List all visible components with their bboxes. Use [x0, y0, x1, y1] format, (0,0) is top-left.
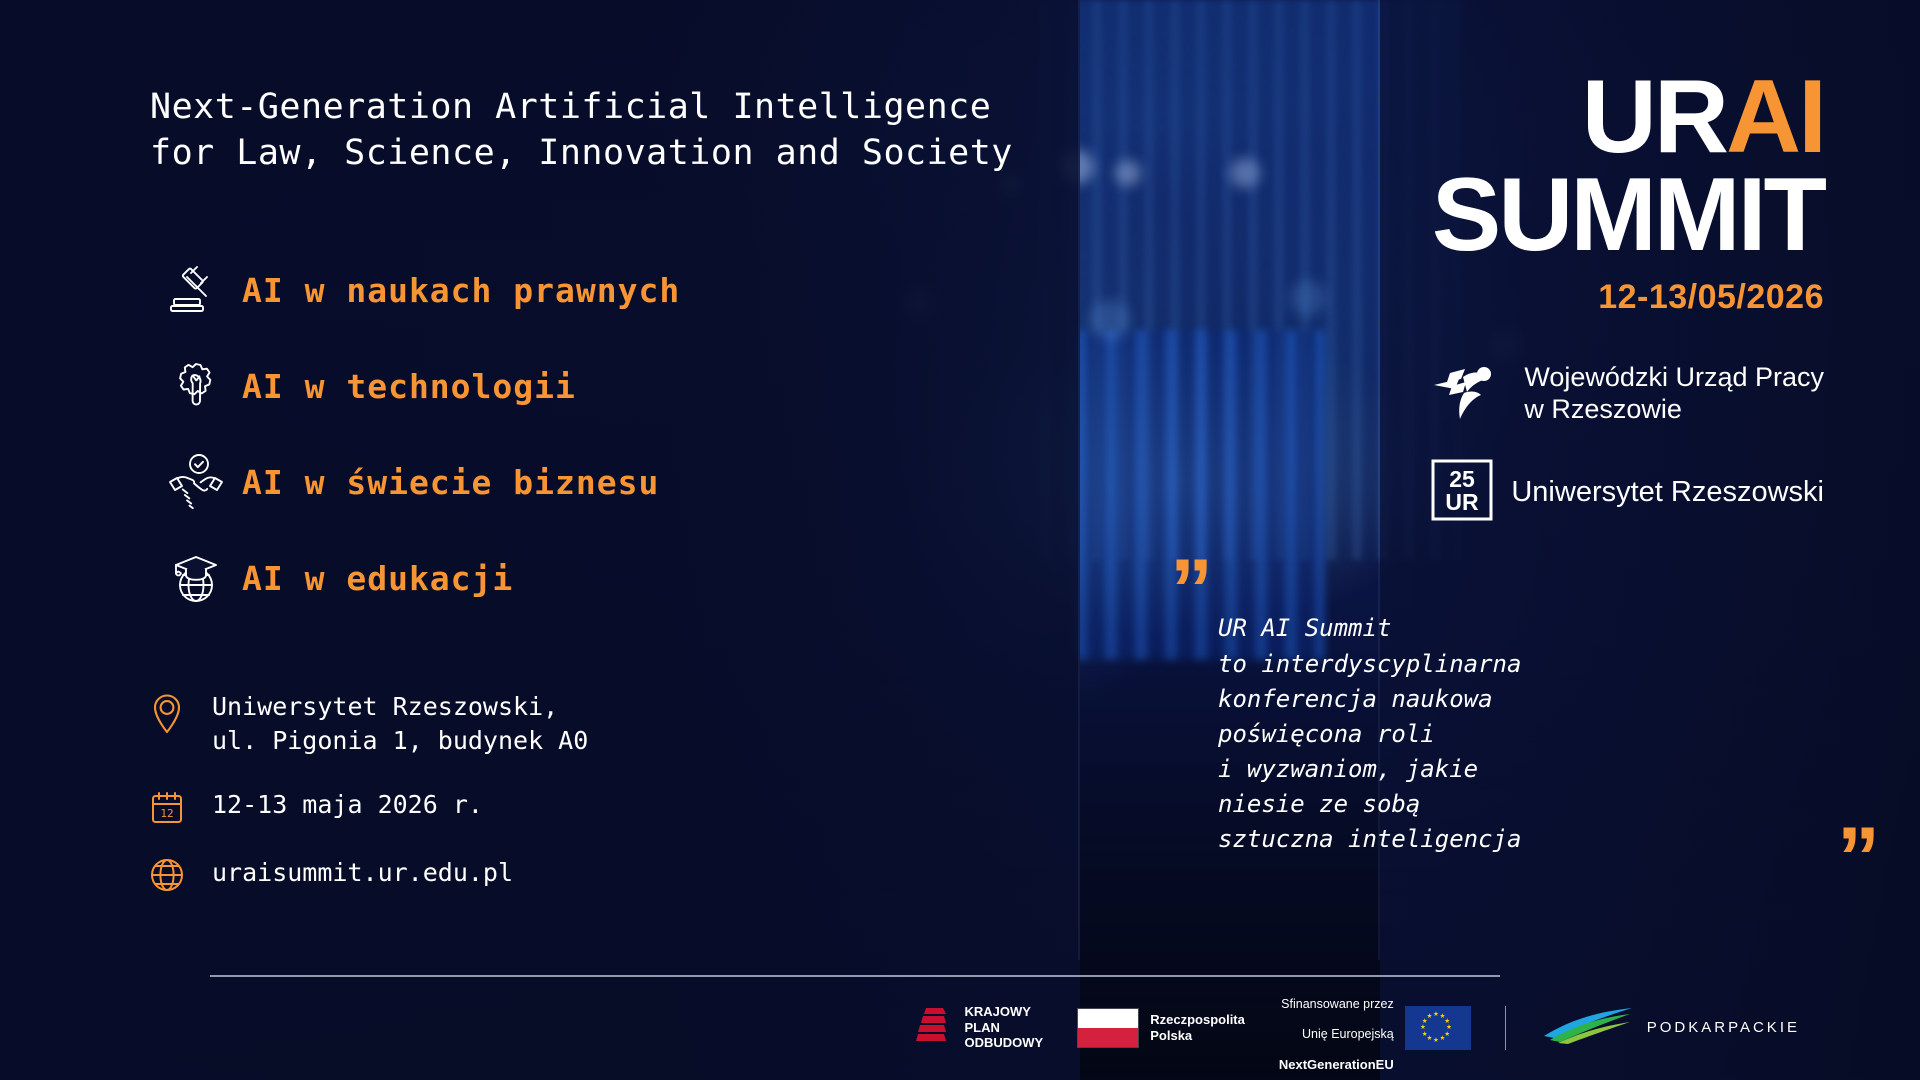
eu-line-1: Sfinansowane przez: [1281, 997, 1394, 1011]
contact-website-text[interactable]: uraisummit.ur.edu.pl: [212, 856, 513, 890]
footer-eu: Sfinansowane przez Unię Europejską NextG…: [1279, 982, 1471, 1073]
list-item: AI w edukacji: [150, 530, 1050, 626]
eu-line-3: NextGenerationEU: [1279, 1057, 1394, 1072]
list-item: AI w technologii: [150, 338, 1050, 434]
eu-star-icon: ★: [1427, 1034, 1432, 1043]
photo-band-edge: [1078, 0, 1080, 960]
gavel-icon: [150, 259, 242, 321]
event-date-badge: 12-13/05/2026: [1180, 278, 1824, 317]
eu-star-icon: ★: [1444, 1030, 1449, 1039]
location-pin-icon: [150, 690, 212, 734]
calendar-icon: 12: [150, 788, 212, 826]
contact-date: 12 12-13 maja 2026 r.: [150, 788, 1050, 826]
eu-flag-icon: ★★★★★★★★★★★★: [1405, 1006, 1471, 1050]
contact-website[interactable]: uraisummit.ur.edu.pl: [150, 856, 1050, 892]
quote-text: UR AI Summit to interdyscyplinarna konfe…: [1180, 565, 1824, 856]
ur-logo: 25 UR: [1431, 459, 1493, 525]
sponsor-wup: Wojewódzki Urząd Pracy w Rzeszowie: [1180, 359, 1880, 427]
sponsor-ur: 25 UR Uniwersytet Rzeszowski: [1180, 459, 1880, 525]
graduation-globe-icon: [150, 547, 242, 609]
contact-details: Uniwersytet Rzeszowski, ul. Pigonia 1, b…: [150, 690, 1050, 892]
topic-label: AI w technologii: [242, 367, 576, 406]
footer-logos: KRAJOWY PLAN ODBUDOWY Rzeczpospolita Pol…: [0, 985, 1920, 1070]
svg-text:UR: UR: [1446, 489, 1480, 515]
topic-label: AI w edukacji: [242, 559, 513, 598]
eu-star-icon: ★: [1440, 1034, 1445, 1043]
bokeh-dot: [1090, 300, 1130, 340]
event-logo: URAI SUMMIT 12-13/05/2026: [1180, 70, 1880, 317]
contact-location-text: Uniwersytet Rzeszowski, ul. Pigonia 1, b…: [212, 690, 588, 758]
handshake-check-icon: [150, 451, 242, 513]
logo-summit-text: SUMMIT: [1180, 166, 1824, 265]
footer-separator: [1505, 1006, 1506, 1050]
topic-label: AI w naukach prawnych: [242, 271, 680, 310]
footer-kpo: KRAJOWY PLAN ODBUDOWY: [910, 1004, 1044, 1051]
left-content-column: Next-Generation Artificial Intelligence …: [150, 84, 1050, 922]
logo-line-1: URAI: [1180, 70, 1824, 166]
eu-star-icon: ★: [1433, 1036, 1438, 1045]
globe-icon: [150, 856, 212, 892]
page-title: Next-Generation Artificial Intelligence …: [150, 84, 1050, 176]
kpo-label: KRAJOWY PLAN ODBUDOWY: [965, 1004, 1044, 1051]
poland-label: Rzeczpospolita Polska: [1150, 1012, 1245, 1043]
quote-open-mark: ”: [1170, 565, 1213, 617]
bokeh-dot: [1115, 160, 1141, 186]
right-content-column: URAI SUMMIT 12-13/05/2026 Wojewódzki Urz…: [1180, 70, 1880, 857]
footer-podkarpackie: PODKARPACKIE: [1540, 1006, 1800, 1050]
svg-text:12: 12: [160, 807, 173, 820]
list-item: AI w świecie biznesu: [150, 434, 1050, 530]
quote-close-mark: ”: [1837, 833, 1880, 885]
kpo-icon: [910, 1005, 954, 1051]
gear-wrench-icon: [150, 355, 242, 417]
wup-logo: [1432, 359, 1506, 427]
topic-label: AI w świecie biznesu: [242, 463, 659, 502]
contact-date-text: 12-13 maja 2026 r.: [212, 788, 483, 822]
poland-flag-icon: [1077, 1008, 1139, 1048]
sponsor-wup-name: Wojewódzki Urząd Pracy w Rzeszowie: [1524, 361, 1824, 427]
footer-divider: [210, 975, 1500, 977]
podkarpackie-icon: [1540, 1006, 1636, 1050]
eu-funding-label: Sfinansowane przez Unię Europejską NextG…: [1279, 982, 1394, 1073]
eu-star-icon: ★: [1427, 1012, 1432, 1021]
eu-star-icon: ★: [1433, 1010, 1438, 1019]
poster-canvas: Next-Generation Artificial Intelligence …: [0, 0, 1920, 1080]
podkarpackie-label: PODKARPACKIE: [1647, 1019, 1800, 1036]
list-item: AI w naukach prawnych: [150, 242, 1050, 338]
quote-block: ” UR AI Summit to interdyscyplinarna kon…: [1180, 565, 1880, 856]
topics-list: AI w naukach prawnych AI w technologii: [150, 242, 1050, 626]
sponsor-ur-name: Uniwersytet Rzeszowski: [1511, 475, 1824, 510]
footer-poland: Rzeczpospolita Polska: [1077, 1008, 1245, 1048]
eu-line-2: Unię Europejską: [1302, 1027, 1394, 1041]
contact-location: Uniwersytet Rzeszowski, ul. Pigonia 1, b…: [150, 690, 1050, 758]
